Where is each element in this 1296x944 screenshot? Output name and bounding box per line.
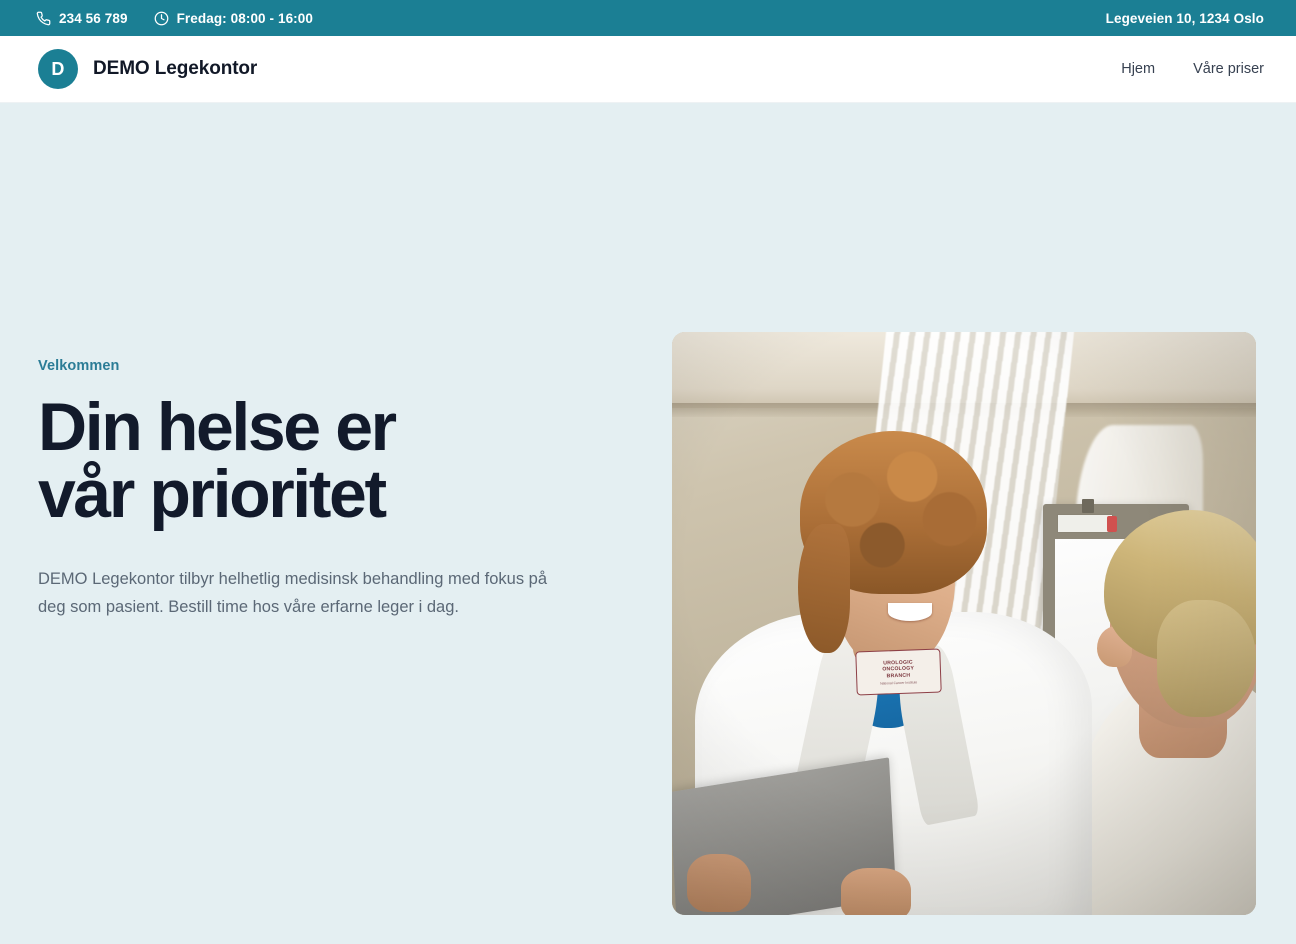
- hero-title-line-2: vår prioritet: [38, 456, 385, 532]
- brand-name: DEMO Legekontor: [93, 58, 257, 80]
- opening-hours: Fredag: 08:00 - 16:00: [177, 11, 313, 26]
- topbar-hours: Fredag: 08:00 - 16:00: [154, 11, 313, 26]
- hero-eyebrow: Velkommen: [38, 358, 598, 374]
- phone-number: 234 56 789: [59, 11, 128, 26]
- photo-patient-hair-lower: [1157, 600, 1256, 717]
- badge-line-3: BRANCH: [886, 673, 910, 680]
- hero-copy: Velkommen Din helse er vår prioritet DEM…: [38, 358, 598, 621]
- doctor-patient-photo: UROLOGIC ONCOLOGY BRANCH National Cancer…: [672, 332, 1256, 915]
- topbar-phone[interactable]: 234 56 789: [36, 11, 128, 26]
- hero-title-line-1: Din helse er: [38, 389, 395, 465]
- photo-xray-clip: [1082, 499, 1094, 513]
- topbar-address: Legeveien 10, 1234 Oslo: [1106, 11, 1264, 26]
- logo-mark: D: [38, 49, 78, 89]
- clock-icon: [154, 11, 169, 26]
- phone-icon: [36, 11, 51, 26]
- photo-doctor-hand-right: [841, 868, 911, 915]
- nav-link-vare-priser[interactable]: Våre priser: [1193, 61, 1264, 77]
- photo-doctor-hand-left: [687, 854, 751, 912]
- hero-subtitle: DEMO Legekontor tilbyr helhetlig medisin…: [38, 565, 563, 622]
- hero-section: Velkommen Din helse er vår prioritet DEM…: [0, 103, 1296, 944]
- photo-coat-badge: UROLOGIC ONCOLOGY BRANCH National Cancer…: [855, 648, 941, 695]
- photo-doctor-hair-side: [798, 524, 851, 652]
- site-header: D DEMO Legekontor Hjem Våre priser: [0, 36, 1296, 103]
- page-title: Din helse er vår prioritet: [38, 394, 508, 529]
- nav-link-hjem[interactable]: Hjem: [1121, 61, 1155, 77]
- hero-image: UROLOGIC ONCOLOGY BRANCH National Cancer…: [672, 332, 1256, 915]
- photo-xray-indicator: [1107, 516, 1117, 532]
- top-utility-bar: 234 56 789 Fredag: 08:00 - 16:00 Legevei…: [0, 0, 1296, 36]
- badge-subtitle: National Cancer Institute: [880, 680, 917, 685]
- topbar-contact-group: 234 56 789 Fredag: 08:00 - 16:00: [36, 11, 313, 26]
- photo-xray-label-strip: [1057, 514, 1112, 533]
- brand-logo-link[interactable]: D DEMO Legekontor: [38, 49, 257, 89]
- photo-doctor-smile: [888, 603, 932, 620]
- main-navigation: Hjem Våre priser: [1121, 61, 1264, 77]
